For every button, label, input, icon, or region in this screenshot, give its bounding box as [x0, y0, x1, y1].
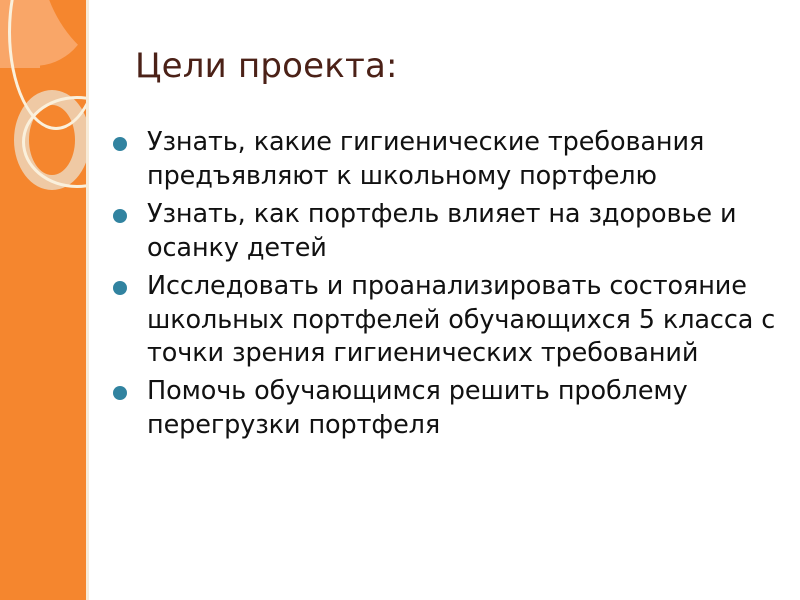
filled-circle-icon — [113, 137, 127, 151]
list-item: Узнать, какие гигиенические требования п… — [111, 126, 799, 194]
filled-circle-icon — [113, 386, 127, 400]
page-title: Цели проекта: — [135, 47, 755, 86]
list-item: Помочь обучающимся решить проблему перег… — [111, 375, 799, 443]
slide-content: Цели проекта: Узнать, какие гигиенически… — [89, 0, 800, 600]
goals-bullet-list: Узнать, какие гигиенические требования п… — [111, 126, 799, 447]
filled-circle-icon — [113, 209, 127, 223]
decorative-sidebar — [0, 0, 86, 600]
list-item: Исследовать и проанализировать состояние… — [111, 270, 799, 372]
presentation-slide: Цели проекта: Узнать, какие гигиенически… — [0, 0, 800, 600]
list-item-text: Помочь обучающимся решить проблему перег… — [147, 376, 688, 440]
filled-circle-icon — [113, 281, 127, 295]
list-item-text: Исследовать и проанализировать состояние… — [147, 271, 775, 369]
list-item-text: Узнать, как портфель влияет на здоровье … — [147, 199, 736, 263]
list-item: Узнать, как портфель влияет на здоровье … — [111, 198, 799, 266]
list-item-text: Узнать, какие гигиенические требования п… — [147, 127, 704, 191]
